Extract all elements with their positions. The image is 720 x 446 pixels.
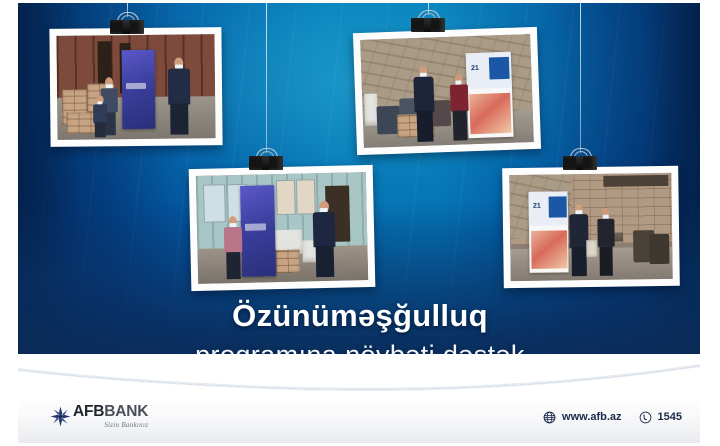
photo-image-bottom-right: 21 bbox=[509, 173, 672, 281]
footer-contact: www.afb.az 1545 bbox=[543, 411, 682, 424]
clip-center-gap bbox=[424, 18, 431, 32]
globe-icon bbox=[543, 411, 556, 424]
scene-banner-21: 21 bbox=[529, 191, 569, 272]
logo-name-part2: BANK bbox=[104, 403, 148, 420]
photo-frame-top-right[interactable]: 21 bbox=[353, 27, 541, 155]
photo-frame-bottom-right[interactable]: 21 bbox=[502, 166, 680, 288]
clip-center-gap bbox=[262, 156, 269, 170]
wave-shape bbox=[18, 354, 700, 400]
binder-clip-top-left bbox=[110, 14, 144, 34]
scene-banner-blue-block bbox=[548, 196, 566, 217]
scene-person-woman bbox=[222, 216, 244, 279]
binder-clip-bottom-center bbox=[249, 150, 283, 170]
photo-frame-bottom-center[interactable] bbox=[189, 165, 376, 291]
scene-banner-photo bbox=[531, 230, 567, 269]
scene-rollup-banner bbox=[121, 49, 155, 128]
logo-tagline: Sizin Bankınız bbox=[73, 422, 148, 429]
scene-person-woman bbox=[596, 208, 616, 276]
clip-center-gap bbox=[123, 20, 130, 34]
phone-handset-icon bbox=[639, 411, 652, 424]
logo-name-part1: AFB bbox=[73, 403, 104, 420]
footer-bar: AFBBANK Sizin Bankınız www.afb.az 1545 bbox=[18, 398, 700, 443]
scene-window-3 bbox=[276, 180, 296, 215]
scene-handed-bag bbox=[586, 240, 598, 257]
phone-label[interactable]: 1545 bbox=[658, 412, 682, 423]
photo-image-top-left bbox=[56, 34, 215, 140]
binder-clip-bottom-right bbox=[563, 150, 597, 170]
scene-roof-eave bbox=[603, 175, 668, 186]
hanging-string-3 bbox=[266, 3, 267, 153]
scene-banner-photo bbox=[469, 93, 511, 135]
scene-chair-2 bbox=[649, 234, 669, 264]
logo-text-block: AFBBANK Sizin Bankınız bbox=[73, 404, 148, 429]
scene-cabinet bbox=[276, 249, 300, 273]
photo-image-bottom-center bbox=[196, 172, 368, 284]
scene-person-bank-rep bbox=[167, 57, 191, 134]
scene-person-bank-rep bbox=[312, 201, 338, 277]
eight-point-star-icon bbox=[50, 406, 71, 427]
logo-wordmark: AFBBANK bbox=[73, 404, 148, 420]
scene-banner-21: 21 bbox=[466, 52, 513, 138]
scene-banner-number: 21 bbox=[471, 65, 479, 72]
scene-person-woman bbox=[448, 73, 471, 141]
clip-center-gap bbox=[576, 156, 583, 170]
wave-divider bbox=[18, 354, 700, 400]
scene-banner-number: 21 bbox=[533, 203, 541, 210]
scene-banner-blue-block bbox=[488, 57, 509, 80]
scene-person-child bbox=[92, 96, 108, 138]
afbbank-logo[interactable]: AFBBANK Sizin Bankınız bbox=[50, 404, 148, 429]
scene-rollup-banner bbox=[240, 185, 276, 276]
photo-image-top-right: 21 bbox=[360, 34, 534, 148]
website-label[interactable]: www.afb.az bbox=[562, 412, 622, 423]
binder-clip-top-right bbox=[411, 12, 445, 32]
scene-person-bank-rep bbox=[412, 66, 437, 142]
hanging-string-4 bbox=[580, 3, 581, 153]
poster-canvas: 21 bbox=[0, 0, 720, 446]
photo-frame-top-left[interactable] bbox=[49, 27, 222, 147]
page-title: Özünüməşğulluq bbox=[0, 298, 720, 334]
